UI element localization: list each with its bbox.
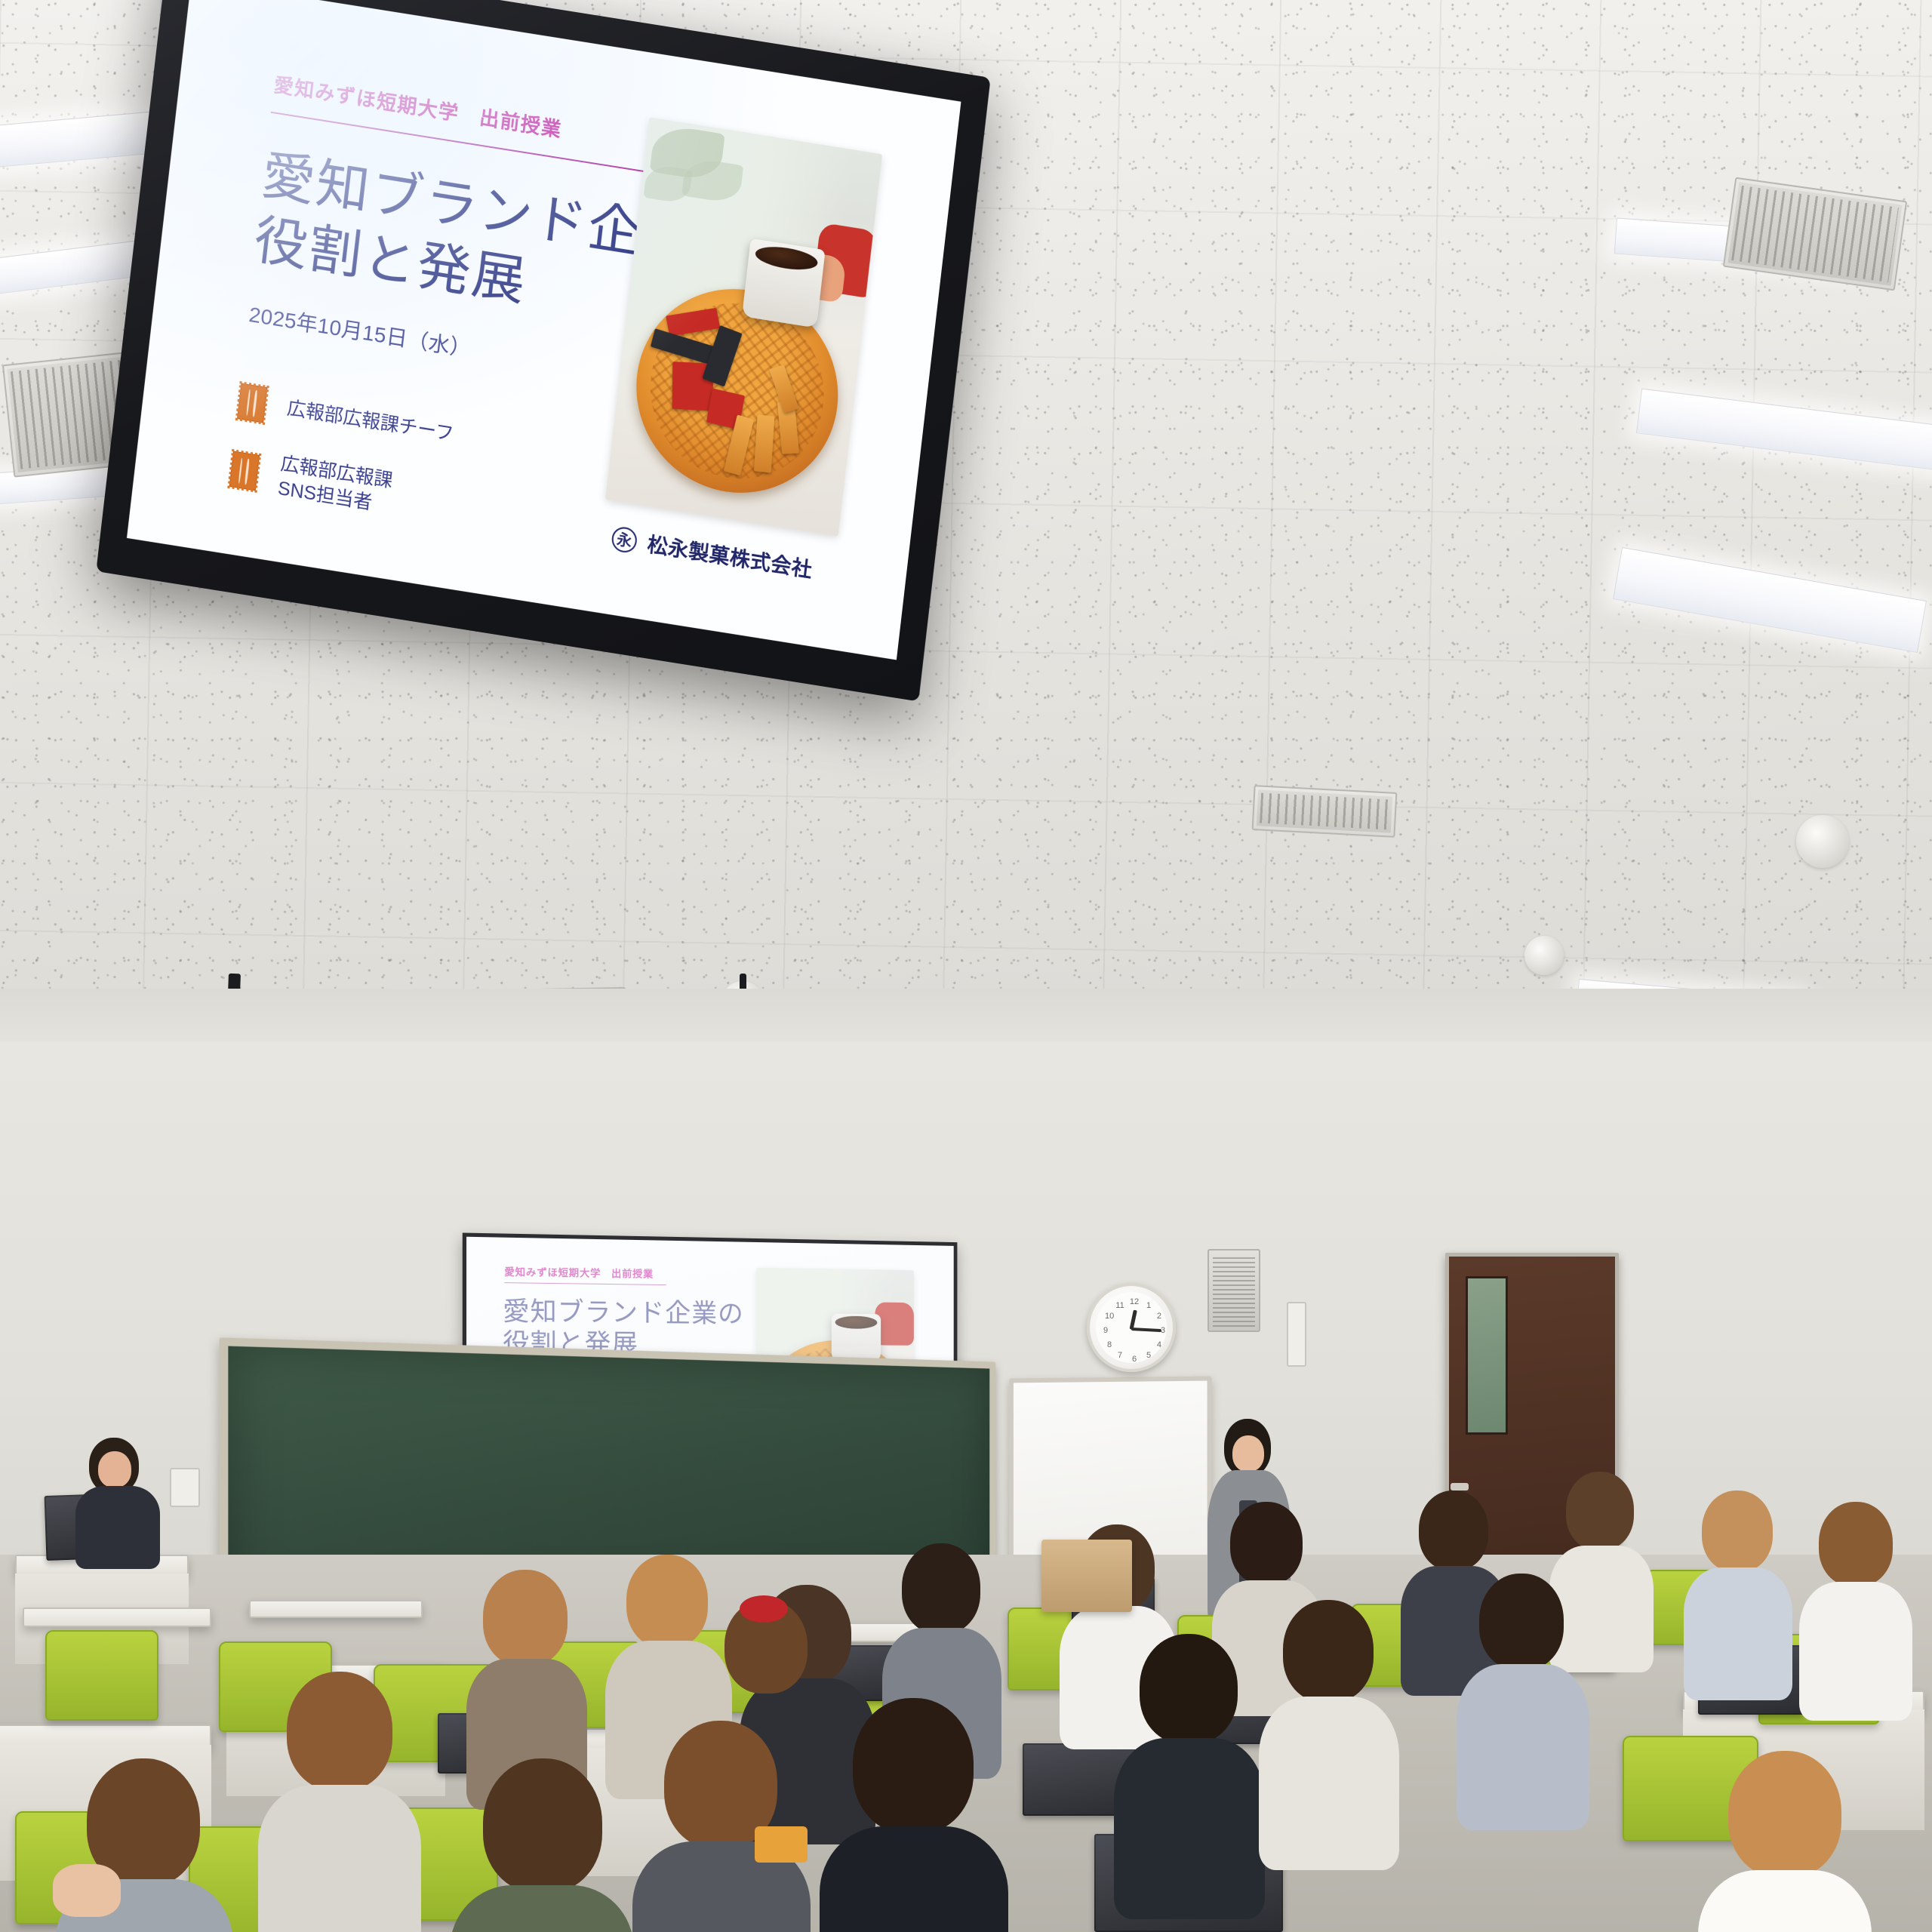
clock-numeral: 7 — [1118, 1351, 1122, 1360]
torso — [75, 1486, 160, 1569]
slide-credits: 広報部広報課チーフ 広報部広報課 SNS担当者 — [228, 383, 455, 529]
photo-hand-sleeve — [875, 1303, 913, 1346]
clock-numeral: 5 — [1146, 1351, 1151, 1360]
lecture-chair — [45, 1630, 158, 1721]
logo-mark: 永 — [611, 525, 638, 554]
clock-numeral: 9 — [1103, 1326, 1108, 1335]
slide-kicker-rule — [504, 1282, 666, 1285]
smoke-detector — [1524, 936, 1564, 975]
slide-date: 2025年10月15日（水） — [248, 297, 473, 363]
cardboard-box — [1041, 1540, 1132, 1612]
credit-row: 広報部広報課チーフ — [237, 383, 456, 454]
smoke-detector — [1796, 815, 1849, 868]
presentation-slide: 愛知みずほ短期大学 出前授業 愛知ブランド企業の 役割と発展 2025年10月1… — [127, 0, 961, 660]
ceiling-air-vent — [1252, 785, 1398, 838]
photo-coffee-mug — [742, 238, 826, 328]
photo-snack-stick — [754, 414, 774, 472]
door-handle[interactable] — [1451, 1483, 1469, 1491]
clock-numeral: 12 — [1130, 1297, 1139, 1306]
credit-label: 広報部広報課 SNS担当者 — [276, 451, 394, 519]
foreground-object — [53, 1864, 121, 1917]
slide-kicker: 愛知みずほ短期大学 出前授業 — [504, 1264, 654, 1281]
logo-text: 松永製菓株式会社 — [646, 529, 814, 584]
clock-numeral: 1 — [1146, 1301, 1151, 1310]
desk-item — [755, 1826, 808, 1863]
wall-clock: 121234567891011 — [1087, 1283, 1176, 1372]
credit-row: 広報部広報課 SNS担当者 — [228, 444, 448, 528]
door-window — [1466, 1276, 1508, 1435]
clock-numeral: 10 — [1105, 1312, 1114, 1321]
slide-kicker: 愛知みずほ短期大学 出前授業 — [272, 69, 564, 143]
slide-product-photo — [605, 118, 882, 537]
student-desk — [249, 1600, 423, 1618]
clock-numeral: 8 — [1107, 1340, 1112, 1349]
credit-label: 広報部広報課チーフ — [286, 396, 455, 448]
wall-outlet — [170, 1468, 200, 1507]
biscuit-icon — [229, 451, 260, 491]
clock-numeral: 6 — [1132, 1355, 1137, 1364]
clock-numeral: 11 — [1115, 1301, 1124, 1310]
clock-numeral: 2 — [1157, 1312, 1161, 1321]
clock-numeral: 4 — [1157, 1340, 1161, 1349]
face — [1232, 1435, 1264, 1472]
face — [98, 1451, 131, 1487]
company-logo: 永 松永製菓株式会社 — [611, 523, 814, 583]
student-desk — [23, 1607, 211, 1627]
red-ribbon — [740, 1595, 788, 1623]
wall-panel — [1287, 1302, 1306, 1367]
photo-coffee-mug — [832, 1314, 881, 1363]
biscuit-icon — [237, 383, 267, 423]
wall-speaker — [1207, 1249, 1260, 1332]
display-screen: 愛知みずほ短期大学 出前授業 愛知ブランド企業の 役割と発展 2025年10月1… — [127, 0, 961, 660]
lecture-hall-photo: 愛知みずほ短期大学 出前授業 愛知ブランド企業の 役割と発展 2025年10月1… — [0, 0, 1932, 1932]
